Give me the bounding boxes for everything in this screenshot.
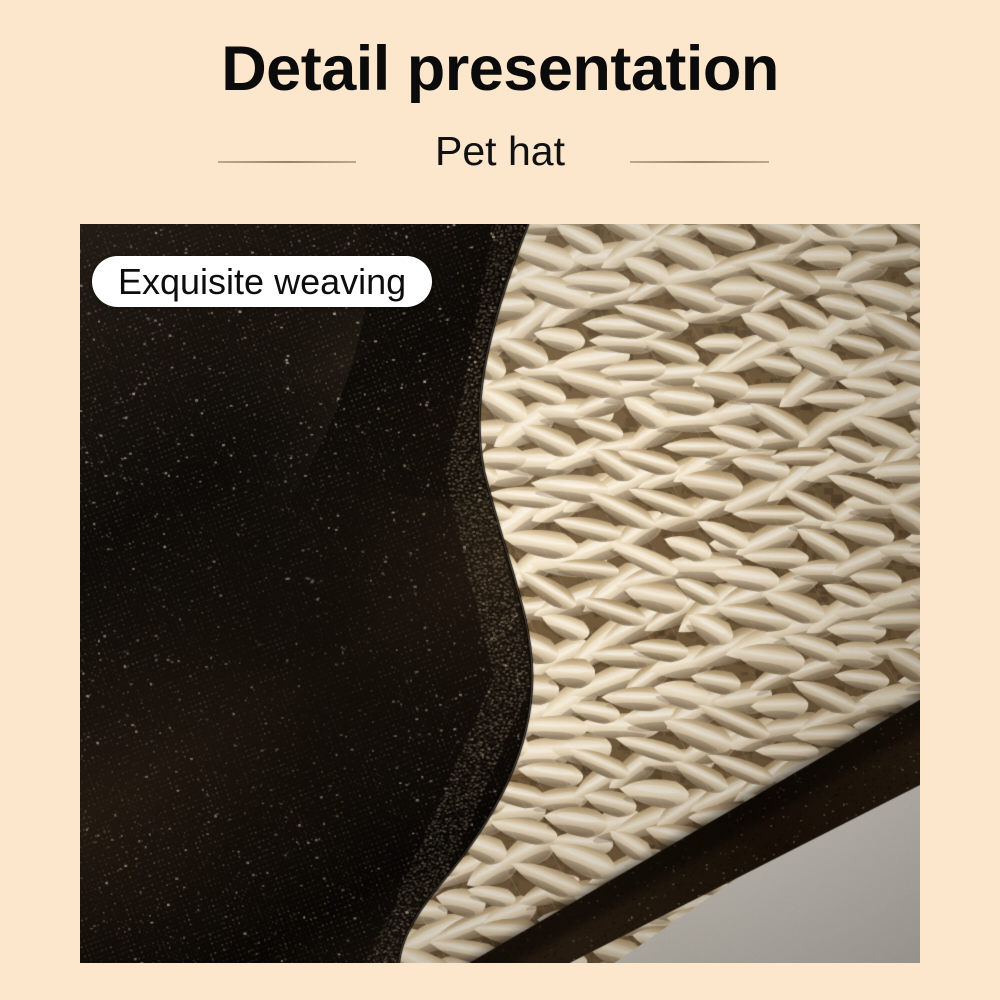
subtitle-row: Pet hat (0, 126, 1000, 182)
page-title: Detail presentation (0, 34, 1000, 104)
product-photo-canvas (80, 224, 920, 963)
badge-exquisite-weaving: Exquisite weaving (92, 256, 432, 307)
product-photo: Exquisite weaving (80, 224, 920, 963)
page-subtitle: Pet hat (0, 126, 1000, 176)
header: Detail presentation Pet hat (0, 0, 1000, 224)
right-rule (630, 161, 769, 163)
badge-label: Exquisite weaving (118, 264, 406, 300)
detail-presentation-page: Detail presentation Pet hat Exquisite we… (0, 0, 1000, 1000)
